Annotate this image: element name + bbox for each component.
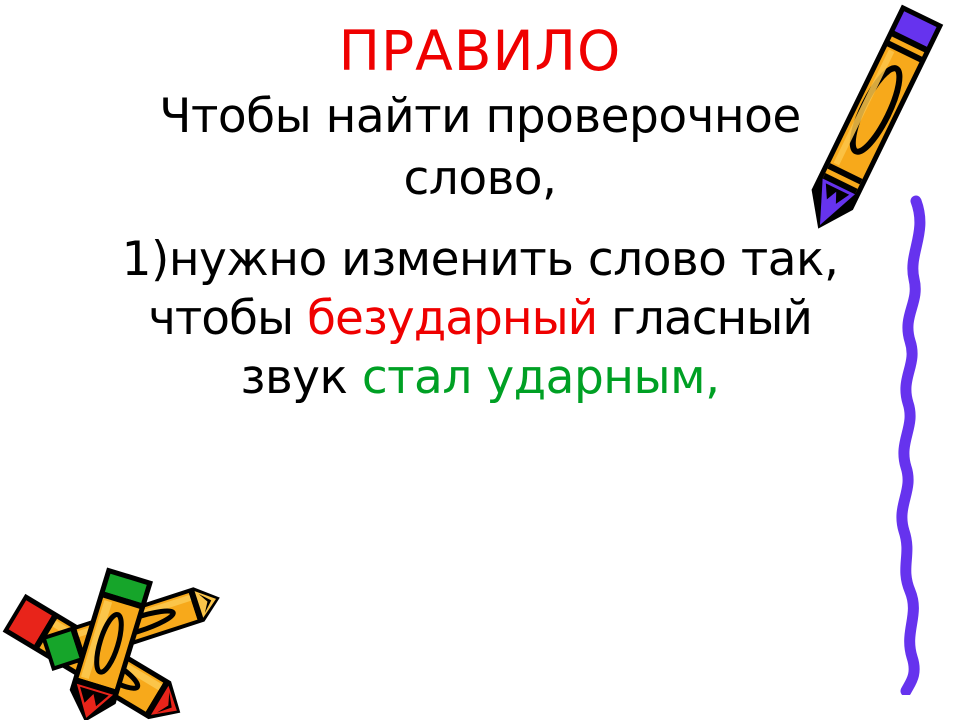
- slide-text-block: ПРАВИЛО Чтобы найти проверочное слово, 1…: [30, 22, 930, 407]
- rule-line-3: 1)нужно изменить слово так,: [30, 230, 930, 289]
- slide-canvas: ПРАВИЛО Чтобы найти проверочное слово, 1…: [0, 0, 960, 720]
- rule-line-5-highlight-stal-udarnym: стал ударным,: [362, 350, 720, 405]
- rule-line-1: Чтобы найти проверочное: [30, 87, 930, 146]
- rule-line-4-part-3: гласный: [597, 291, 812, 346]
- rule-line-4: чтобы безударный гласный: [30, 289, 930, 348]
- page-title: ПРАВИЛО: [30, 22, 930, 81]
- rule-line-5-part-1: звук: [240, 350, 361, 405]
- rule-line-4-highlight-bezudarny: безударный: [307, 291, 597, 346]
- rule-line-4-part-1: чтобы: [148, 291, 307, 346]
- rule-line-5: звук стал ударным,: [30, 348, 930, 407]
- crayons-bottom-left-icon: [0, 556, 236, 720]
- rule-line-2: слово,: [30, 149, 930, 208]
